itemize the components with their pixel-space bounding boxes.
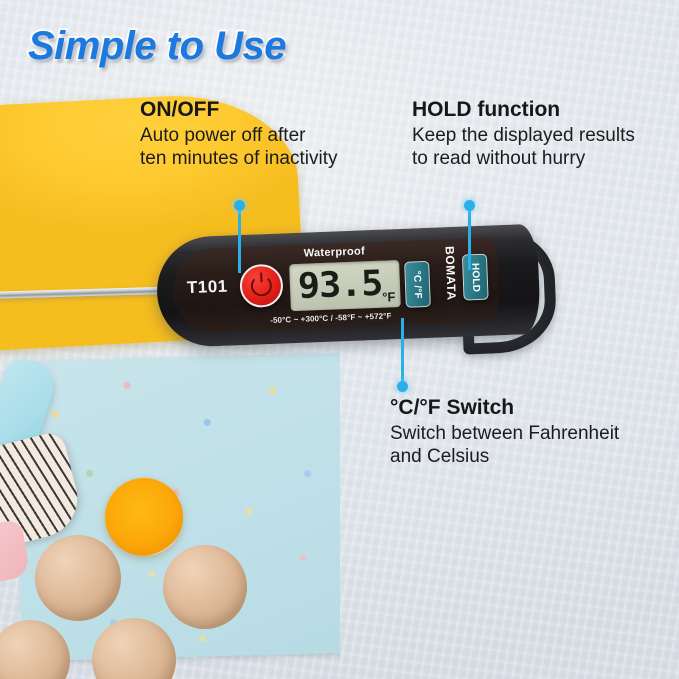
infographic-canvas: Simple to Use T101 Waterproof 93.5 °F -5… <box>0 0 679 679</box>
leader-dot-hold <box>464 200 475 211</box>
celsius-fahrenheit-label: °C /°F <box>411 270 423 298</box>
callout-switch-line1: Switch between Fahrenheit <box>390 422 619 445</box>
callout-switch-line2: and Celsius <box>390 445 619 468</box>
callout-onoff-heading: ON/OFF <box>140 98 337 122</box>
leader-dot-switch <box>397 381 408 392</box>
cracked-egg-yolk <box>105 478 183 556</box>
page-title: Simple to Use <box>28 24 286 69</box>
callout-switch-heading: °C/°F Switch <box>390 396 619 420</box>
leader-line-hold <box>468 205 471 270</box>
waterproof-label: Waterproof <box>303 245 365 259</box>
hold-label: HOLD <box>469 262 481 292</box>
lcd-display: 93.5 °F <box>289 260 401 311</box>
egg <box>163 545 247 629</box>
leader-line-switch <box>401 318 404 386</box>
temperature-unit: °F <box>382 290 396 303</box>
power-icon <box>251 275 273 297</box>
temperature-value: 93.5 <box>297 267 383 305</box>
callout-switch: °C/°F Switch Switch between Fahrenheit a… <box>390 396 619 469</box>
leader-dot-onoff <box>234 200 245 211</box>
callout-hold: HOLD function Keep the displayed results… <box>412 98 635 171</box>
hold-button[interactable]: HOLD <box>462 254 489 301</box>
leader-line-onoff <box>238 205 241 273</box>
callout-hold-line1: Keep the displayed results <box>412 124 635 147</box>
callout-onoff: ON/OFF Auto power off after ten minutes … <box>140 98 337 171</box>
egg <box>35 535 121 621</box>
brand-label: BOMATA <box>443 246 459 291</box>
callout-onoff-line1: Auto power off after <box>140 124 337 147</box>
thermometer-device: T101 Waterproof 93.5 °F -50°C ~ +300°C /… <box>155 224 541 349</box>
callout-hold-line2: to read without hurry <box>412 147 635 170</box>
model-label: T101 <box>187 277 228 299</box>
callout-hold-heading: HOLD function <box>412 98 635 122</box>
callout-onoff-line2: ten minutes of inactivity <box>140 147 337 170</box>
celsius-fahrenheit-button[interactable]: °C /°F <box>404 261 431 308</box>
